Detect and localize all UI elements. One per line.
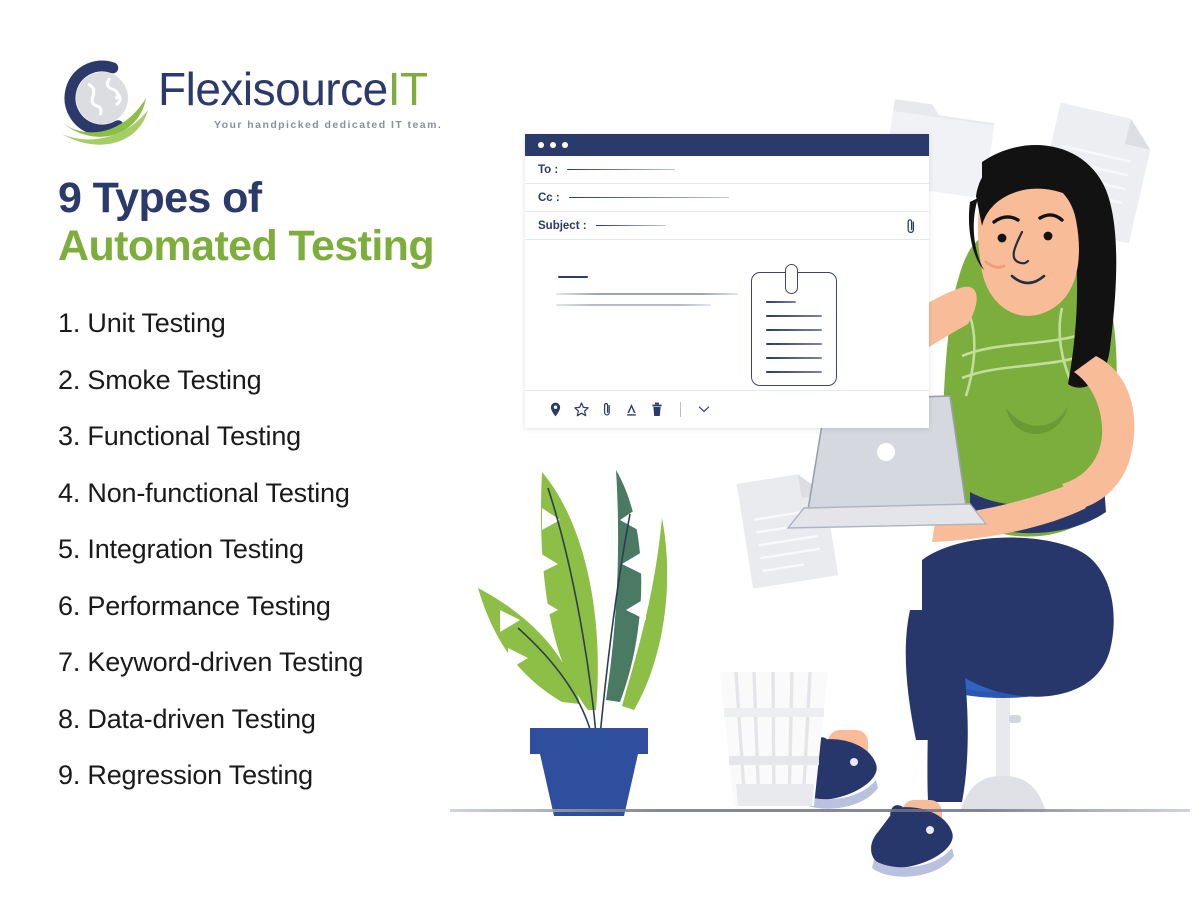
- logo-tagline: Your handpicked dedicated IT team.: [214, 119, 442, 131]
- field-label-subject: Subject :: [538, 220, 587, 232]
- window-dot-icon[interactable]: [562, 142, 568, 148]
- illustration-scene: To : Cc : Subject :: [440, 0, 1200, 900]
- toolbar-divider: [680, 402, 681, 417]
- email-field-cc[interactable]: Cc :: [525, 184, 929, 212]
- wire-wastebasket-illustration: [712, 664, 836, 812]
- window-titlebar: [525, 134, 929, 156]
- attachment-text-line: [766, 357, 822, 359]
- attachment-text-line: [766, 301, 796, 303]
- attached-document-icon[interactable]: [751, 272, 837, 386]
- email-compose-window[interactable]: To : Cc : Subject :: [525, 134, 929, 428]
- logo-wordmark: FlexisourceIT: [158, 66, 442, 112]
- logo-name-secondary: IT: [388, 63, 428, 115]
- field-value-line: [567, 169, 675, 171]
- email-field-subject[interactable]: Subject :: [525, 212, 929, 240]
- field-label-to: To :: [538, 164, 558, 176]
- body-text-line: [556, 293, 738, 295]
- trash-icon[interactable]: [651, 402, 663, 417]
- email-field-to[interactable]: To :: [525, 156, 929, 184]
- paperclip-icon[interactable]: [602, 402, 612, 417]
- text-format-icon[interactable]: [625, 402, 638, 417]
- logo-name-primary: Flexisource: [158, 63, 388, 115]
- attachment-text-line: [766, 343, 822, 345]
- potted-plant-illustration: [470, 448, 710, 816]
- attachment-text-line: [766, 315, 822, 317]
- star-icon[interactable]: [574, 402, 589, 417]
- attachment-text-line: [766, 329, 822, 331]
- logo-text-block: FlexisourceIT Your handpicked dedicated …: [158, 66, 442, 131]
- field-label-cc: Cc :: [538, 192, 560, 204]
- window-dot-icon[interactable]: [550, 142, 556, 148]
- window-dot-icon[interactable]: [538, 142, 544, 148]
- attachment-text-line: [766, 371, 822, 373]
- field-value-line: [596, 225, 666, 227]
- paperclip-icon[interactable]: [905, 218, 917, 235]
- field-value-line: [569, 197, 729, 199]
- flexisource-globe-logo-icon: [58, 54, 154, 142]
- location-pin-icon[interactable]: [550, 402, 561, 417]
- email-toolbar: [525, 390, 929, 428]
- ground-line: [450, 809, 1190, 812]
- chevron-down-icon[interactable]: [698, 405, 710, 414]
- paperclip-icon: [785, 264, 798, 294]
- body-text-line: [558, 276, 588, 278]
- body-text-line: [556, 304, 711, 306]
